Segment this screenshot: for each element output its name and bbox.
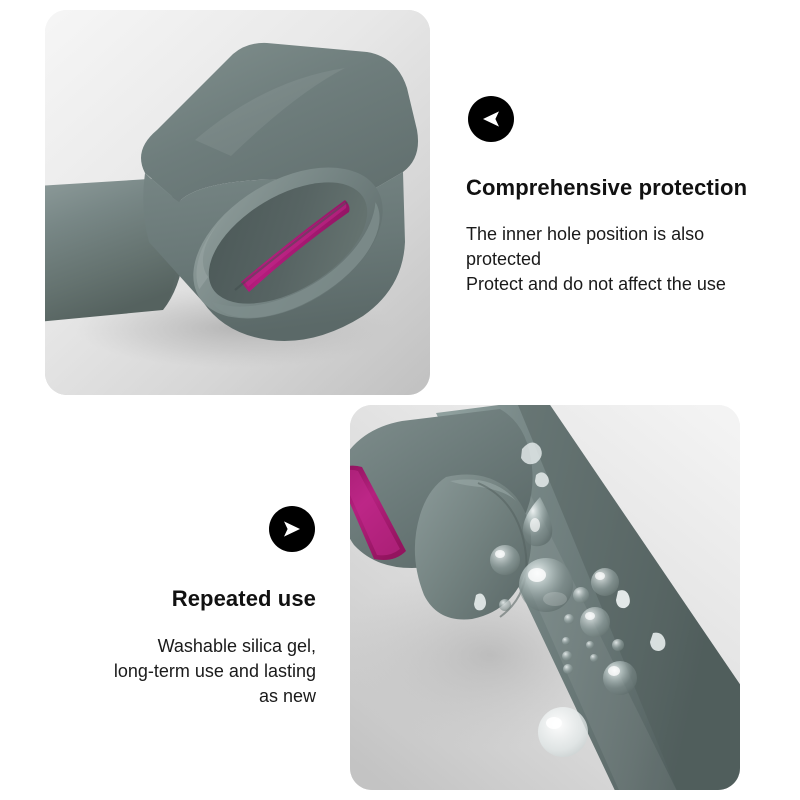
callout-comprehensive-protection: Comprehensive protection The inner hole … <box>466 96 786 297</box>
callout-body-line: protected <box>466 247 786 272</box>
arrow-right-circle-icon <box>269 506 315 552</box>
arrow-left-circle-icon <box>468 96 514 142</box>
top-product-illustration <box>45 10 430 395</box>
callout-body-line: Protect and do not affect the use <box>466 272 786 297</box>
callout-body-line: The inner hole position is also <box>466 222 786 247</box>
callout-body-line: Washable silica gel, <box>20 634 316 659</box>
callout-body-line: as new <box>20 684 316 709</box>
callout-body: Washable silica gel, long-term use and l… <box>20 634 316 709</box>
bottom-product-illustration <box>350 405 740 790</box>
callout-heading: Comprehensive protection <box>466 175 786 201</box>
infographic-canvas: Comprehensive protection The inner hole … <box>0 0 800 800</box>
callout-repeated-use: Repeated use Washable silica gel, long-t… <box>20 506 316 709</box>
callout-heading: Repeated use <box>20 586 316 612</box>
bottom-product-photo <box>350 405 740 790</box>
callout-body-line: long-term use and lasting <box>20 659 316 684</box>
callout-body: The inner hole position is also protecte… <box>466 222 786 297</box>
top-product-photo <box>45 10 430 395</box>
